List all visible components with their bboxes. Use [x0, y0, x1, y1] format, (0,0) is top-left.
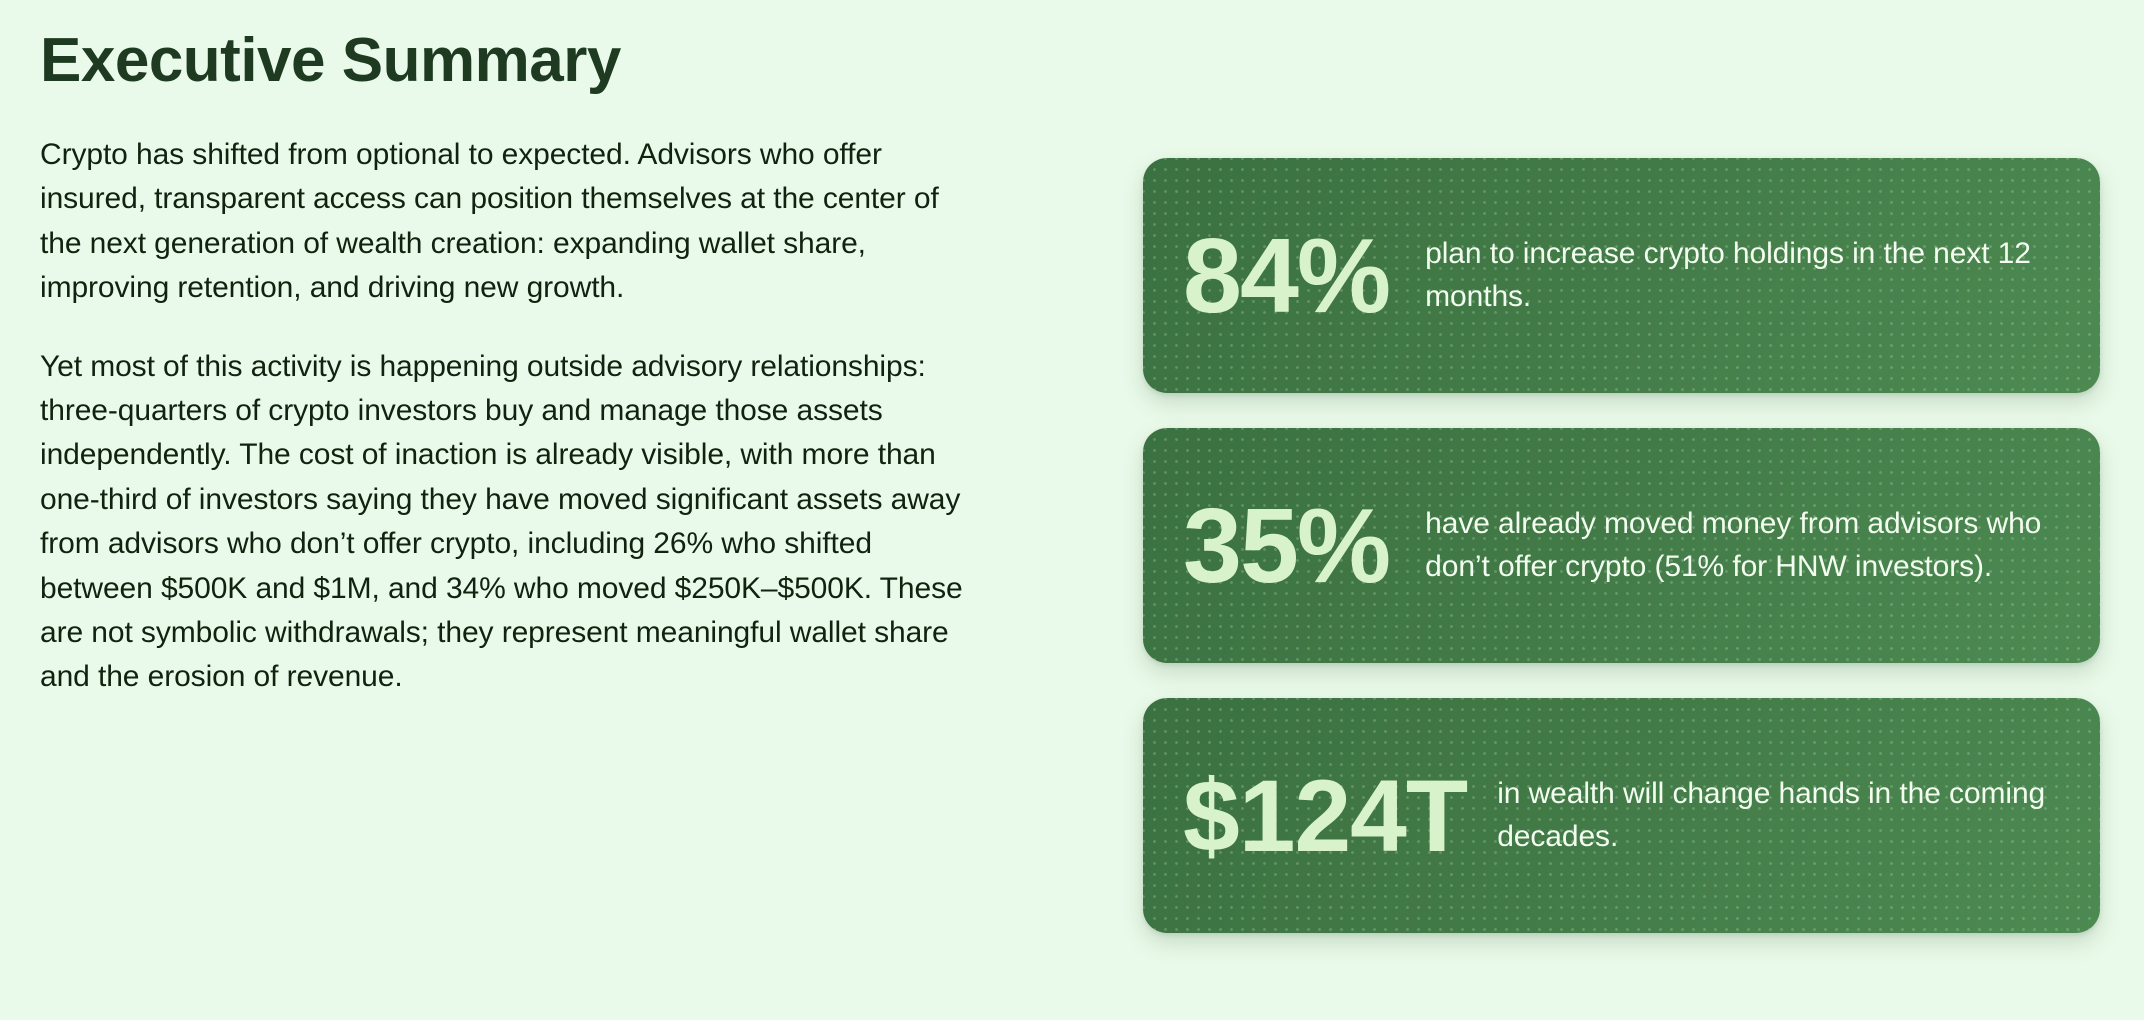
stat-value: 35% — [1183, 493, 1389, 599]
stat-cards-column: 84% plan to increase crypto holdings in … — [1143, 158, 2100, 933]
stat-card: 35% have already moved money from adviso… — [1143, 428, 2100, 663]
stat-description: have already moved money from advisors w… — [1425, 503, 2058, 588]
stat-value: 84% — [1183, 223, 1389, 329]
stat-description: plan to increase crypto holdings in the … — [1425, 233, 2058, 318]
summary-paragraph-2: Yet most of this activity is happening o… — [40, 345, 970, 700]
executive-summary-page: Executive Summary Crypto has shifted fro… — [0, 0, 2144, 1020]
summary-paragraph-1: Crypto has shifted from optional to expe… — [40, 133, 970, 311]
stat-card: 84% plan to increase crypto holdings in … — [1143, 158, 2100, 393]
stat-value: $124T — [1183, 765, 1467, 867]
page-title: Executive Summary — [40, 28, 1000, 93]
stat-description: in wealth will change hands in the comin… — [1497, 773, 2058, 858]
summary-text-column: Executive Summary Crypto has shifted fro… — [40, 28, 1000, 700]
stat-card: $124T in wealth will change hands in the… — [1143, 698, 2100, 933]
